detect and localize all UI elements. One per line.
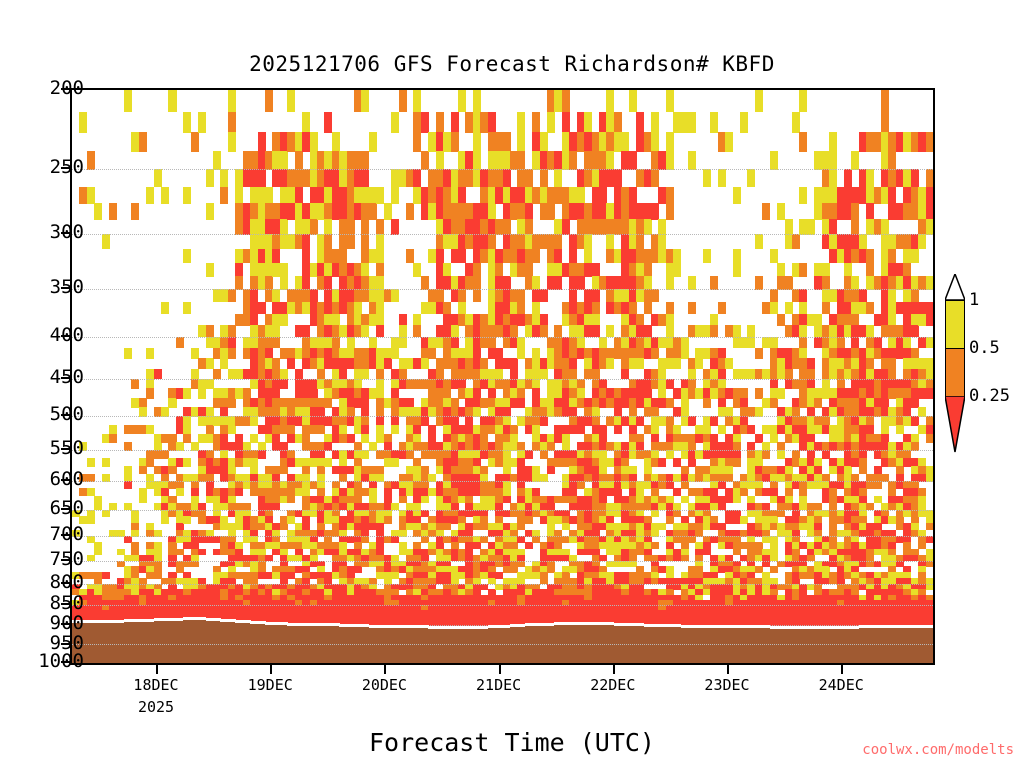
surface-pressure-line — [926, 625, 934, 628]
heatmap-cell — [168, 90, 176, 112]
heatmap-cell — [606, 234, 614, 249]
x-axis-tick — [727, 665, 729, 674]
heatmap-cell — [666, 90, 674, 112]
heatmap-cell — [629, 187, 637, 204]
heatmap-cell — [532, 112, 540, 133]
heatmap-cell — [851, 151, 859, 170]
heatmap-cell — [280, 369, 288, 380]
y-axis-label: 1000 — [38, 650, 84, 672]
heatmap-cell — [718, 369, 726, 380]
heatmap-cell — [866, 169, 874, 187]
heatmap-cell — [569, 249, 577, 264]
heatmap-cell — [829, 132, 837, 152]
heatmap-cell — [644, 219, 652, 235]
heatmap-cell — [837, 337, 845, 349]
heatmap-cell — [874, 337, 882, 349]
y-axis-label: 750 — [50, 548, 84, 570]
heatmap-cell — [911, 325, 919, 337]
heatmap-cell — [228, 289, 236, 302]
heatmap-cell — [851, 219, 859, 235]
heatmap-cell — [510, 325, 518, 337]
heatmap-cell — [540, 314, 548, 326]
heatmap-cell — [926, 276, 934, 290]
heatmap-cell — [154, 169, 162, 187]
heatmap-cell — [517, 337, 525, 349]
heatmap-cell — [592, 325, 600, 337]
chart-page: 2025121706 GFS Forecast Richardson# KBFD… — [0, 0, 1024, 768]
heatmap-cell — [926, 358, 934, 369]
heatmap-cell — [310, 132, 318, 152]
page-title: 2025121706 GFS Forecast Richardson# KBFD — [0, 52, 1024, 76]
heatmap-cell — [280, 151, 288, 170]
heatmap-cell — [87, 151, 95, 170]
heatmap-cell — [376, 187, 384, 204]
heatmap-cell — [651, 289, 659, 302]
gridline — [72, 561, 933, 562]
heatmap-cell — [235, 488, 243, 496]
heatmap-cell — [458, 187, 466, 204]
heatmap-cell — [577, 337, 585, 349]
heatmap-cell — [926, 369, 934, 380]
heatmap-cell — [532, 302, 540, 315]
colorbar-legend[interactable]: 10.50.25 — [945, 300, 965, 444]
heatmap-cell — [733, 249, 741, 264]
heatmap-cell — [525, 516, 533, 523]
heatmap-cell — [592, 263, 600, 277]
heatmap-cell — [703, 398, 711, 408]
heatmap-cell — [198, 388, 206, 398]
heatmap-cell — [584, 112, 592, 133]
heatmap-cell — [822, 302, 830, 315]
colorbar-segment[interactable] — [945, 300, 965, 348]
heatmap-cell — [718, 302, 726, 315]
y-axis-label: 350 — [50, 276, 84, 298]
heatmap-cell — [183, 458, 191, 466]
heatmap-cell — [525, 203, 533, 219]
heatmap-cell — [102, 458, 110, 466]
heatmap-cell — [161, 302, 169, 315]
heatmap-cell — [280, 314, 288, 326]
heatmap-cell — [926, 219, 934, 235]
heatmap-cell — [369, 337, 377, 349]
heatmap-cell — [866, 302, 874, 315]
heatmap-cell — [206, 358, 214, 369]
heatmap-cell — [443, 263, 451, 277]
heatmap-cell — [473, 348, 481, 359]
heatmap-cell — [265, 276, 273, 290]
heatmap-cell — [540, 289, 548, 302]
heatmap-cell — [525, 169, 533, 187]
heatmap-cell — [621, 132, 629, 152]
heatmap-cell — [361, 90, 369, 112]
heatmap-cell — [918, 234, 926, 249]
heatmap-cell — [94, 549, 102, 556]
x-axis-tick — [384, 665, 386, 674]
heatmap-cell — [799, 289, 807, 302]
heatmap-cell — [666, 325, 674, 337]
y-axis-label: 700 — [50, 523, 84, 545]
heatmap-cell — [280, 219, 288, 235]
heatmap-cell — [926, 337, 934, 349]
heatmap-cell — [851, 203, 859, 219]
heatmap-cell — [799, 337, 807, 349]
heatmap-cell — [428, 348, 436, 359]
heatmap-cell — [799, 348, 807, 359]
heatmap-cell — [725, 132, 733, 152]
heatmap-cell — [785, 302, 793, 315]
x-axis-year-label: 2025 — [138, 698, 174, 716]
heatmap-cell — [814, 314, 822, 326]
heatmap-cell — [391, 425, 399, 434]
heatmap-cell — [881, 90, 889, 112]
heatmap-cell — [436, 289, 444, 302]
heatmap-cell — [688, 302, 696, 315]
heatmap-cell — [903, 337, 911, 349]
heatmap-cell — [347, 219, 355, 235]
heatmap-cell — [265, 90, 273, 112]
heatmap-cell — [302, 276, 310, 290]
watermark: coolwx.com/modelts — [862, 742, 1014, 758]
heatmap-cell — [495, 369, 503, 380]
heatmap-cell — [332, 314, 340, 326]
heatmap-cell — [540, 132, 548, 152]
heatmap-cell — [762, 450, 770, 459]
heatmap-cell — [213, 151, 221, 170]
heatmap-cell — [733, 263, 741, 277]
heatmap-cell — [903, 263, 911, 277]
heatmap-cell — [265, 187, 273, 204]
heatmap-cell — [376, 234, 384, 249]
heatmap-cell — [829, 219, 837, 235]
heatmap-cell — [532, 276, 540, 290]
heatmap-cell — [324, 234, 332, 249]
heatmap-cell — [688, 369, 696, 380]
heatmap-cell — [829, 169, 837, 187]
heatmap-cell — [644, 263, 652, 277]
heatmap-cell — [361, 263, 369, 277]
heatmap-cell — [799, 132, 807, 152]
heatmap-cell — [629, 151, 637, 170]
heatmap-cell — [421, 151, 429, 170]
heatmap-cell — [651, 132, 659, 152]
heatmap-cell — [206, 203, 214, 219]
gridline — [72, 416, 933, 417]
heatmap-cell — [666, 203, 674, 219]
heatmap-cell — [592, 289, 600, 302]
heatmap-cell — [666, 302, 674, 315]
heatmap-cell — [599, 187, 607, 204]
heatmap-cell — [636, 314, 644, 326]
x-axis-label: 18DEC — [133, 676, 178, 694]
heatmap-cell — [406, 249, 414, 264]
heatmap-cell — [562, 112, 570, 133]
heatmap-cell — [733, 325, 741, 337]
y-axis-label: 200 — [50, 77, 84, 99]
heatmap-cell — [480, 358, 488, 369]
heatmap-cell — [733, 458, 741, 466]
terrain-segment — [926, 628, 934, 663]
heatmap-cell — [651, 542, 659, 549]
heatmap-cell — [250, 289, 258, 302]
heatmap-cell — [710, 276, 718, 290]
heatmap-cell — [354, 566, 362, 572]
heatmap-cell — [391, 112, 399, 133]
heatmap-cell — [413, 132, 421, 152]
heatmap-cell — [606, 90, 614, 112]
heatmap-cell — [124, 348, 132, 359]
heatmap-cell — [280, 276, 288, 290]
heatmap-cell — [755, 90, 763, 112]
heatmap-cell — [391, 348, 399, 359]
heatmap-cell — [495, 348, 503, 359]
heatmap-cell — [517, 151, 525, 170]
heatmap-cell — [525, 219, 533, 235]
heatmap-cell — [220, 169, 228, 187]
heatmap-cell — [888, 358, 896, 369]
heatmap-cell — [681, 337, 689, 349]
heatmap-cell — [785, 219, 793, 235]
heatmap-cell — [436, 112, 444, 133]
heatmap-cell — [599, 337, 607, 349]
heatmap-cell — [421, 358, 429, 369]
heatmap-cell — [220, 187, 228, 204]
x-axis-tick — [613, 665, 615, 674]
heatmap-cell — [332, 132, 340, 152]
heatmap-cell — [926, 314, 934, 326]
heatmap-cell — [109, 203, 117, 219]
heatmap-cell — [265, 348, 273, 359]
heatmap-cell — [614, 425, 622, 434]
heatmap-cell — [822, 276, 830, 290]
heatmap-cell — [458, 289, 466, 302]
heatmap-cell — [770, 289, 778, 302]
heatmap-cell — [554, 276, 562, 290]
heatmap-cell — [376, 263, 384, 277]
heatmap-cell — [258, 169, 266, 187]
heatmap-cell — [154, 369, 162, 380]
heatmap-cell — [183, 249, 191, 264]
heatmap-cell — [799, 90, 807, 112]
heatmap-cell — [176, 488, 184, 496]
heatmap-cell — [458, 249, 466, 264]
gridline — [72, 337, 933, 338]
heatmap-cell — [510, 369, 518, 380]
heatmap-cell — [651, 348, 659, 359]
heatmap-cell — [658, 234, 666, 249]
y-axis-label: 850 — [50, 592, 84, 614]
heatmap-cell — [911, 249, 919, 264]
heatmap-cell — [406, 203, 414, 219]
y-axis-label: 800 — [50, 571, 84, 593]
heatmap-cell — [295, 369, 303, 380]
heatmap-cell — [651, 112, 659, 133]
heatmap-cell — [881, 219, 889, 235]
heatmap-cell — [777, 388, 785, 398]
colorbar-divider — [945, 300, 965, 301]
heatmap-cell — [161, 187, 169, 204]
x-axis-label: 19DEC — [248, 676, 293, 694]
heatmap-cell — [287, 496, 295, 504]
heatmap-cell — [614, 169, 622, 187]
heatmap-cell — [762, 203, 770, 219]
heatmap-plot-area — [70, 88, 935, 665]
x-axis-label: 21DEC — [476, 676, 521, 694]
heatmap-cell — [399, 314, 407, 326]
heatmap-cell — [866, 203, 874, 219]
heatmap-cell — [272, 337, 280, 349]
heatmap-cell — [733, 496, 741, 504]
heatmap-cell — [554, 325, 562, 337]
heatmap-cell — [525, 542, 533, 549]
heatmap-cell — [228, 90, 236, 112]
gridline — [72, 169, 933, 170]
heatmap-cell — [302, 112, 310, 133]
heatmap-cell — [517, 132, 525, 152]
heatmap-cell — [139, 132, 147, 152]
heatmap-cell — [584, 234, 592, 249]
heatmap-cell — [102, 234, 110, 249]
heatmap-cell — [888, 151, 896, 170]
heatmap-cell — [139, 496, 147, 504]
colorbar-divider — [945, 348, 965, 349]
heatmap-cell — [926, 169, 934, 187]
y-axis-label: 650 — [50, 497, 84, 519]
x-axis-label: 24DEC — [819, 676, 864, 694]
heatmap-cell — [666, 132, 674, 152]
heatmap-cell — [569, 358, 577, 369]
heatmap-cell — [361, 169, 369, 187]
gridline-terrain — [72, 644, 933, 645]
heatmap-cell — [725, 358, 733, 369]
heatmap-cell — [926, 523, 934, 530]
heatmap-cell — [799, 187, 807, 204]
heatmap-cell — [384, 203, 392, 219]
heatmap-cell — [651, 169, 659, 187]
heatmap-cell — [799, 302, 807, 315]
heatmap-cell — [235, 187, 243, 204]
heatmap-cell — [361, 450, 369, 459]
heatmap-cell — [183, 112, 191, 133]
heatmap-cell — [413, 314, 421, 326]
heatmap-cell — [755, 348, 763, 359]
heatmap-cell — [376, 219, 384, 235]
heatmap-cell — [324, 112, 332, 133]
heatmap-cell — [547, 466, 555, 474]
heatmap-cell — [636, 234, 644, 249]
heatmap-cell — [888, 369, 896, 380]
heatmap-cell — [191, 132, 199, 152]
heatmap-cell — [807, 358, 815, 369]
heatmap-cell — [391, 458, 399, 466]
heatmap-cell — [644, 302, 652, 315]
colorbar-tick-label: 1 — [969, 290, 979, 310]
heatmap-cell — [421, 276, 429, 290]
heatmap-cell — [888, 249, 896, 264]
heatmap-cell — [866, 325, 874, 337]
heatmap-cell — [658, 458, 666, 466]
heatmap-cell — [206, 263, 214, 277]
heatmap-cell — [87, 187, 95, 204]
heatmap-cell — [347, 234, 355, 249]
heatmap-cell — [644, 276, 652, 290]
heatmap-cell — [131, 379, 139, 389]
heatmap-cell — [228, 112, 236, 133]
heatmap-cell — [287, 90, 295, 112]
heatmap-cell — [673, 358, 681, 369]
heatmap-cell — [124, 90, 132, 112]
y-axis-label: 450 — [50, 366, 84, 388]
heatmap-cell — [807, 219, 815, 235]
heatmap-cell — [770, 337, 778, 349]
heatmap-cell — [94, 203, 102, 219]
heatmap-cell — [577, 276, 585, 290]
heatmap-cell — [421, 112, 429, 133]
heatmap-cell — [807, 369, 815, 380]
heatmap-cell — [87, 458, 95, 466]
heatmap-cell — [124, 481, 132, 489]
heatmap-cell — [488, 234, 496, 249]
heatmap-cell — [228, 348, 236, 359]
heatmap-cell — [361, 234, 369, 249]
heatmap-cell — [198, 549, 206, 556]
heatmap-cell — [228, 398, 236, 408]
heatmap-cell — [228, 337, 236, 349]
heatmap-cell — [317, 369, 325, 380]
heatmap-cell — [770, 151, 778, 170]
heatmap-cell — [473, 151, 481, 170]
heatmap-cell — [606, 325, 614, 337]
heatmap-cell — [324, 219, 332, 235]
heatmap-cell — [866, 249, 874, 264]
heatmap-cell — [681, 348, 689, 359]
colorbar-segment[interactable] — [945, 348, 965, 396]
heatmap-cell — [206, 169, 214, 187]
heatmap-cell — [473, 90, 481, 112]
gridline — [72, 481, 933, 482]
heatmap-cell — [436, 249, 444, 264]
heatmap-cell — [822, 263, 830, 277]
heatmap-cell — [473, 276, 481, 290]
heatmap-cell — [926, 536, 934, 543]
heatmap-cell — [606, 151, 614, 170]
heatmap-cell — [703, 169, 711, 187]
heatmap-cell — [629, 90, 637, 112]
heatmap-cell — [888, 314, 896, 326]
heatmap-cell — [146, 388, 154, 398]
heatmap-cell — [666, 151, 674, 170]
heatmap-cell — [339, 369, 347, 380]
heatmap-cell — [777, 263, 785, 277]
heatmap-cell — [792, 112, 800, 133]
heatmap-cell — [562, 219, 570, 235]
heatmap-cell — [666, 187, 674, 204]
heatmap-cell — [651, 510, 659, 517]
heatmap-cell — [547, 112, 555, 133]
heatmap-cell — [295, 187, 303, 204]
heatmap-cell — [302, 325, 310, 337]
heatmap-cell — [866, 263, 874, 277]
heatmap-cell — [644, 325, 652, 337]
x-axis-label: 23DEC — [704, 676, 749, 694]
colorbar-tick-label: 0.25 — [969, 386, 1010, 406]
heatmap-cell — [666, 314, 674, 326]
heatmap-cell — [569, 151, 577, 170]
heatmap-cell — [391, 187, 399, 204]
heatmap-cell — [161, 516, 169, 523]
heatmap-cell — [926, 388, 934, 398]
heatmap-cell — [710, 325, 718, 337]
heatmap-cell — [376, 302, 384, 315]
